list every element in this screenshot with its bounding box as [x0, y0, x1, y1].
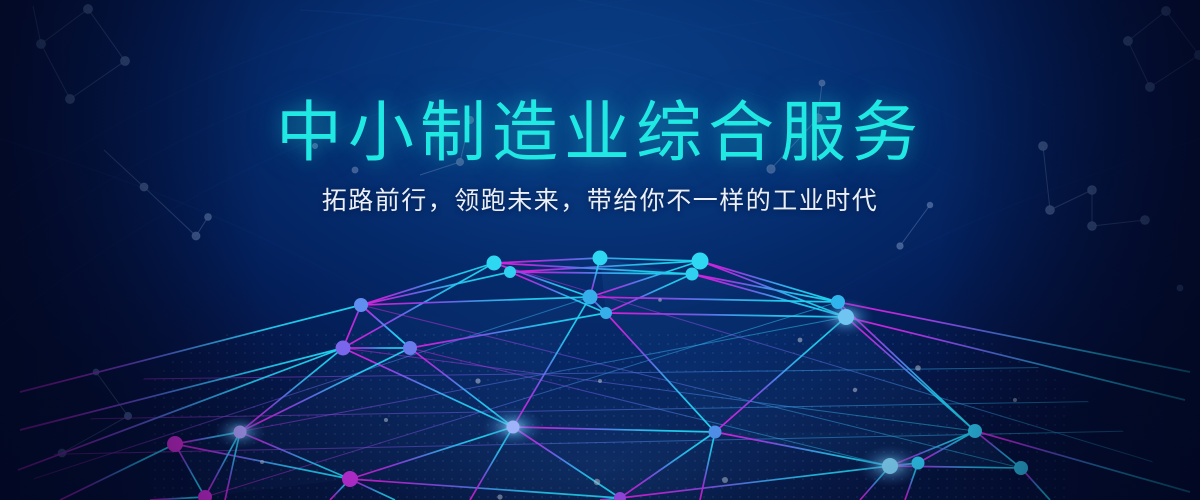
- page-subtitle: 拓路前行，领跑未来，带给你不一样的工业时代: [0, 165, 1200, 214]
- page-title: 中小制造业综合服务: [0, 0, 1200, 165]
- hero-copy: 中小制造业综合服务 拓路前行，领跑未来，带给你不一样的工业时代: [0, 0, 1200, 214]
- hero-banner: 中小制造业综合服务 拓路前行，领跑未来，带给你不一样的工业时代: [0, 0, 1200, 500]
